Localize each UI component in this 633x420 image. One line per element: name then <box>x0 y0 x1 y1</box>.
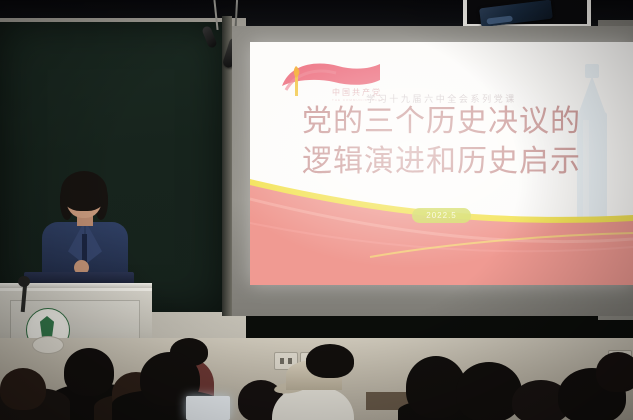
slide-wave-decoration <box>250 165 633 285</box>
audience-head-11 <box>596 352 633 392</box>
audience-head-8 <box>456 362 522 420</box>
slide-title-line-1: 党的三个历史决议的 <box>250 102 633 142</box>
slide-date-badge: 2022.5 <box>250 205 633 223</box>
audience-head-1 <box>64 348 114 396</box>
projected-slide: 中国共产党 THE COMMUNIST PARTY OF CHINA 学习十九届… <box>250 42 633 285</box>
slide-date-badge-label: 2022.5 <box>412 208 470 223</box>
glowing-tablet-screen <box>186 396 230 420</box>
lecture-hall-scene: 中国共产党 THE COMMUNIST PARTY OF CHINA 学习十九届… <box>0 0 633 420</box>
presenter-hair <box>61 171 107 211</box>
audience-head-2 <box>0 368 46 410</box>
podium-microphone-icon <box>18 276 30 287</box>
wall-clock-icon <box>32 336 64 354</box>
audience-head-6 <box>306 344 354 378</box>
